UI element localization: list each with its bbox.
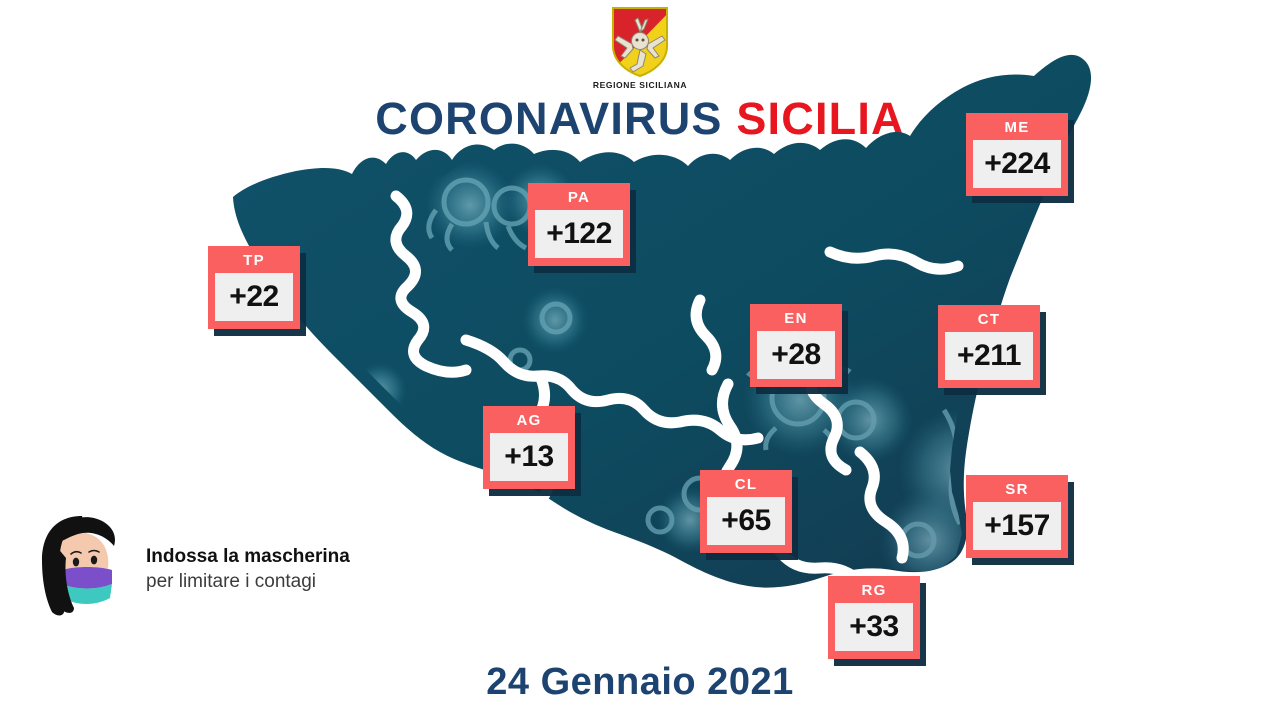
mask-advisory-regular: per limitare i contagi — [146, 571, 316, 592]
mask-advisory: Indossa la mascherina per limitare i con… — [32, 512, 361, 625]
stat-value-tp: +22 — [215, 273, 293, 321]
mask-advisory-bold: Indossa la mascherina — [146, 546, 350, 567]
mask-advisory-text: Indossa la mascherina per limitare i con… — [146, 544, 361, 594]
stat-value-cl: +65 — [707, 497, 785, 545]
stat-box-cl[interactable]: CL +65 — [700, 470, 792, 553]
stat-code-pa: PA — [535, 189, 623, 207]
stat-box-sr[interactable]: SR +157 — [966, 475, 1068, 558]
stat-box-en[interactable]: EN +28 — [750, 304, 842, 387]
stat-code-sr: SR — [973, 481, 1061, 499]
date-label: 24 Gennaio 2021 — [0, 661, 1280, 704]
woman-wearing-mask-icon — [32, 512, 132, 625]
stat-code-rg: RG — [835, 582, 913, 600]
stat-code-me: ME — [973, 119, 1061, 137]
stat-code-en: EN — [757, 310, 835, 328]
stat-code-tp: TP — [215, 252, 293, 270]
stat-value-pa: +122 — [535, 210, 623, 258]
stat-value-ct: +211 — [945, 332, 1033, 380]
stat-code-ct: CT — [945, 311, 1033, 329]
stat-code-ag: AG — [490, 412, 568, 430]
stat-value-me: +224 — [973, 140, 1061, 188]
stat-value-en: +28 — [757, 331, 835, 379]
stat-box-rg[interactable]: RG +33 — [828, 576, 920, 659]
stat-box-pa[interactable]: PA +122 — [528, 183, 630, 266]
stat-value-ag: +13 — [490, 433, 568, 481]
stat-value-rg: +33 — [835, 603, 913, 651]
stat-box-ag[interactable]: AG +13 — [483, 406, 575, 489]
stat-code-cl: CL — [707, 476, 785, 494]
stat-value-sr: +157 — [973, 502, 1061, 550]
stat-box-ct[interactable]: CT +211 — [938, 305, 1040, 388]
stat-box-me[interactable]: ME +224 — [966, 113, 1068, 196]
stat-box-tp[interactable]: TP +22 — [208, 246, 300, 329]
